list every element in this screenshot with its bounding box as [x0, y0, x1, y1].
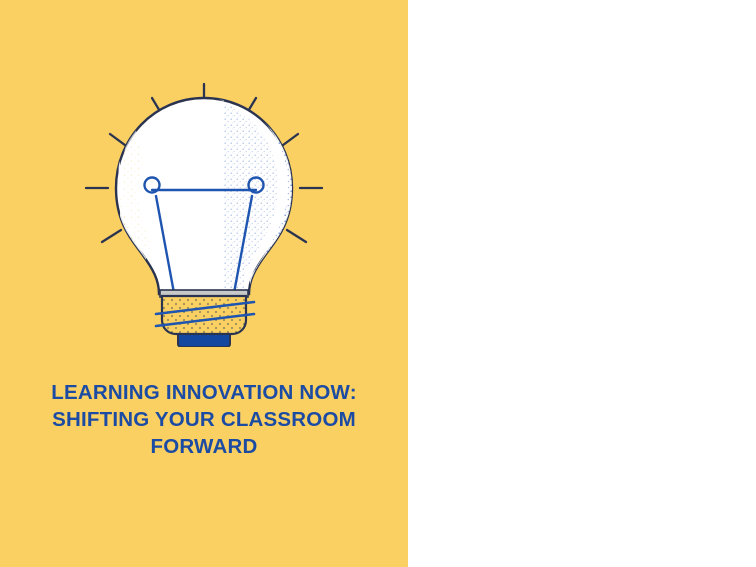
right-content-panel: From Content to ThoughtFrom Pressure to … [408, 0, 756, 567]
bulb-base-tip [178, 334, 230, 347]
lightbulb-illustration [0, 82, 408, 347]
bulb-screw-base [156, 296, 254, 334]
left-yellow-panel: Learning Innovation Now: Shifting Your C… [0, 0, 408, 567]
lightbulb-icon [74, 82, 334, 347]
bulb-glass [116, 92, 300, 298]
page-title: Learning Innovation Now: Shifting Your C… [0, 379, 408, 460]
poster-canvas: Learning Innovation Now: Shifting Your C… [0, 0, 756, 567]
